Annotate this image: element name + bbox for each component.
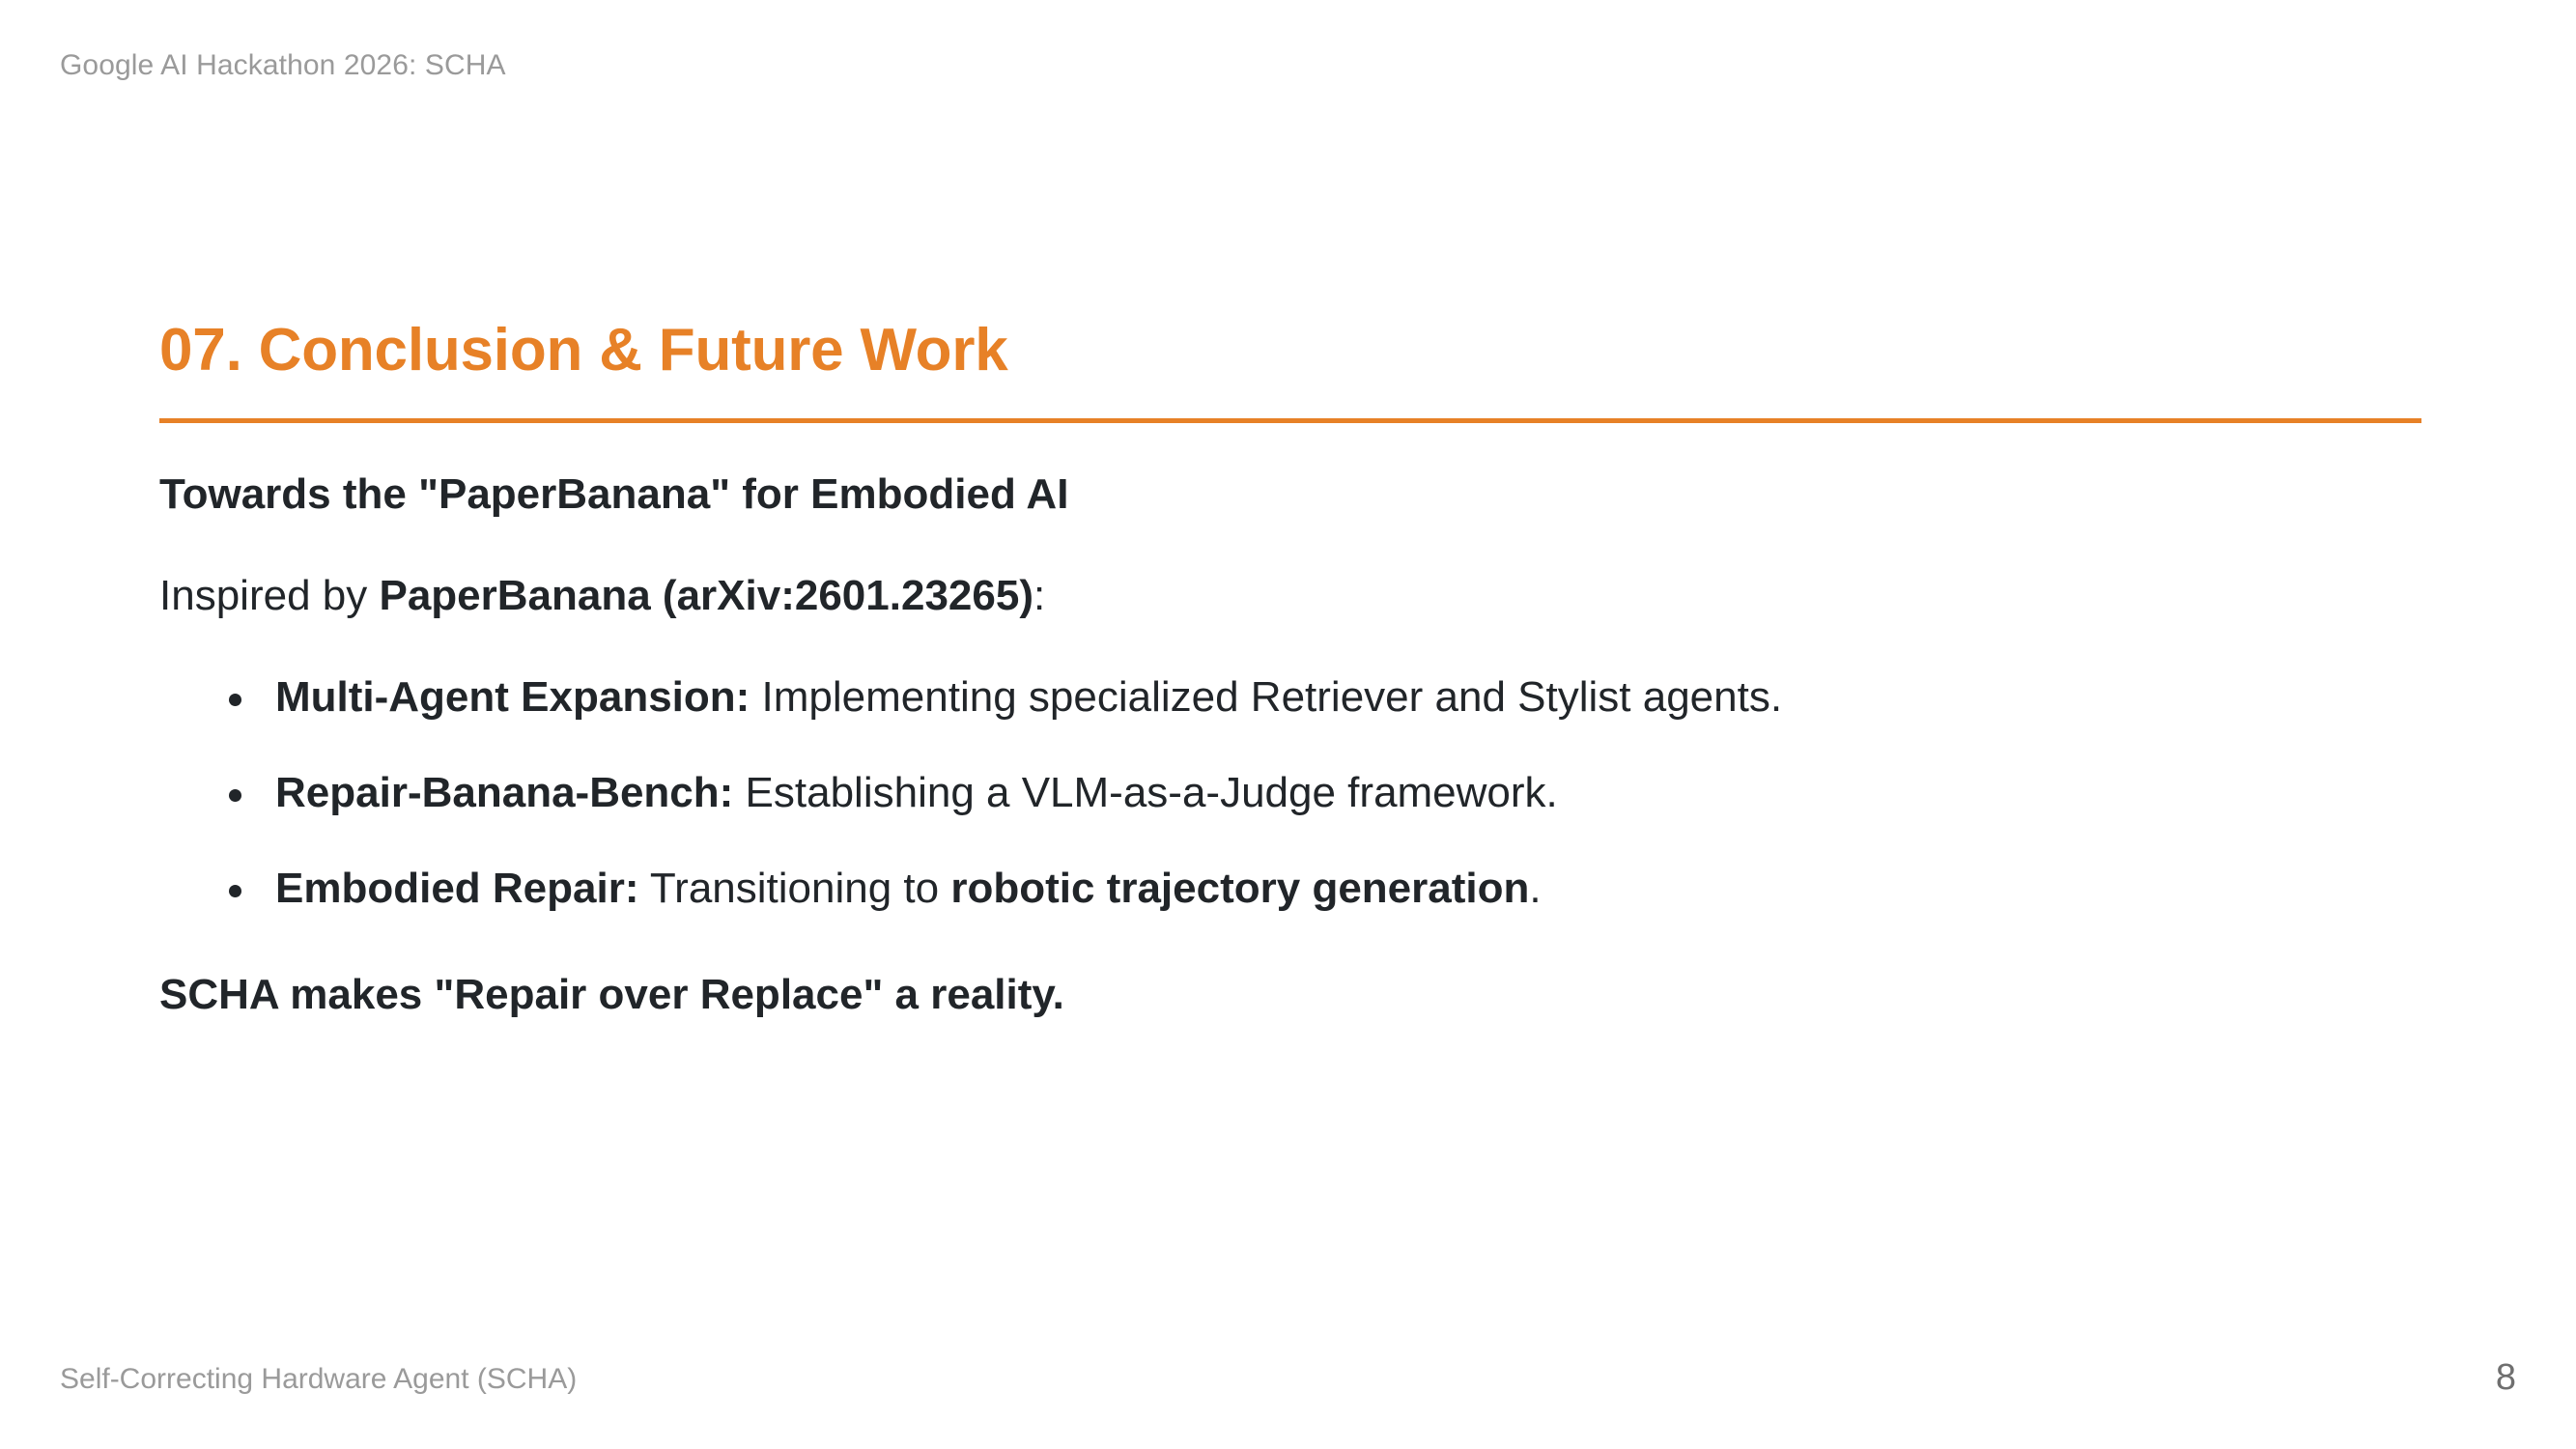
body-block: Towards the "PaperBanana" for Embodied A…: [159, 466, 2421, 1024]
slide-header-label: Google AI Hackathon 2026: SCHA: [60, 48, 506, 83]
section-lead-text: Towards the "PaperBanana" for Embodied A…: [159, 466, 2421, 523]
inspired-by-suffix: :: [1033, 572, 1045, 619]
list-item-rest: Establishing a VLM-as-a-Judge framework.: [733, 769, 1557, 816]
closing-statement: SCHA makes "Repair over Replace" a reali…: [159, 966, 2421, 1023]
slide-content: 07. Conclusion & Future Work Towards the…: [159, 319, 2421, 1024]
bullet-dot-icon: [229, 885, 241, 897]
list-item: Repair-Banana-Bench: Establishing a VLM-…: [159, 765, 2421, 820]
future-work-list: Multi-Agent Expansion: Implementing spec…: [159, 669, 2421, 917]
page-title: 07. Conclusion & Future Work: [159, 319, 2421, 384]
inspired-by-text: Inspired by PaperBanana (arXiv:2601.2326…: [159, 567, 2421, 624]
page-number: 8: [2496, 1357, 2516, 1399]
inspired-by-reference: PaperBanana (arXiv:2601.23265): [379, 572, 1033, 619]
list-item-lead: Repair-Banana-Bench:: [275, 769, 733, 816]
list-item-rest: Transitioning to: [639, 865, 951, 912]
list-item: Embodied Repair: Transitioning to roboti…: [159, 861, 2421, 916]
list-item: Multi-Agent Expansion: Implementing spec…: [159, 669, 2421, 724]
list-item-emphasis: robotic trajectory generation: [950, 865, 1529, 912]
title-divider: [159, 418, 2421, 423]
list-item-rest: Implementing specialized Retriever and S…: [750, 673, 1782, 721]
inspired-by-prefix: Inspired by: [159, 572, 379, 619]
slide: Google AI Hackathon 2026: SCHA 07. Concl…: [0, 0, 2576, 1449]
list-item-lead: Embodied Repair:: [275, 865, 639, 912]
slide-footer-label: Self-Correcting Hardware Agent (SCHA): [60, 1363, 577, 1396]
list-item-tail: .: [1529, 865, 1541, 912]
bullet-dot-icon: [229, 694, 241, 706]
bullet-dot-icon: [229, 789, 241, 802]
list-item-lead: Multi-Agent Expansion:: [275, 673, 750, 721]
